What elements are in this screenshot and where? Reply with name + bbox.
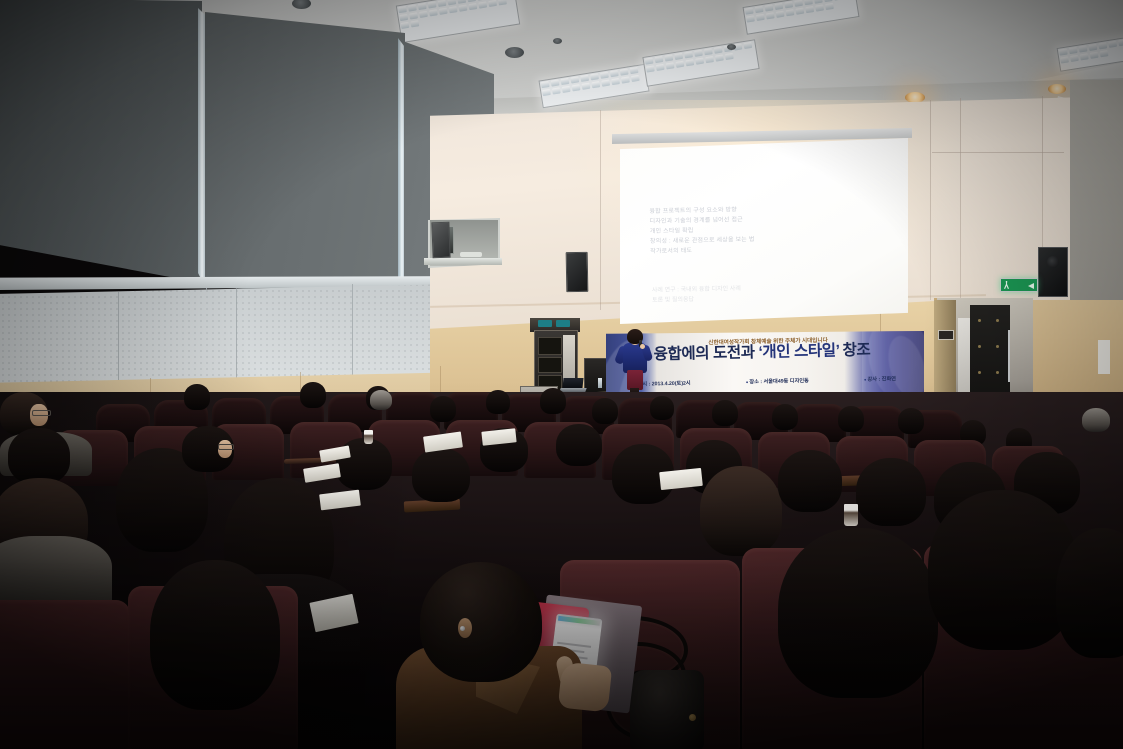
slide-line: 작가로서의 태도 [650,245,850,256]
ceiling-speaker-grille [553,38,562,44]
laptop[interactable] [560,378,586,392]
slide-text-block: 융합 프로젝트의 구성 요소와 방향 디자인과 기술의 경계를 넘어선 접근 개… [649,205,850,275]
attendee-head [420,562,542,682]
audience-head [300,382,326,408]
slide-line: 창의성 : 새로운 관점으로 세상을 보는 법 [650,235,850,246]
audience-head-grey-hair [1082,408,1110,432]
audience-head [184,384,210,410]
audience-head [898,408,924,434]
attendee-hand [558,662,613,713]
running-man-icon [1004,281,1009,289]
presenter-skirt [627,370,643,390]
audience-head [778,450,842,512]
audience-head [556,424,602,466]
loudspeaker-icon [1038,247,1068,297]
presenter-hand [640,344,645,349]
banner-headline-quote: ‘개인 스타일’ [758,342,839,361]
audience-head [412,448,470,502]
audience-head-foreground [778,528,938,698]
audience-head [712,400,738,426]
audience-head [430,396,456,422]
coffee-cup[interactable] [844,504,858,526]
audience-head [838,406,864,432]
audience-head [700,466,782,556]
audience-head [856,458,926,526]
handbag[interactable] [630,670,704,749]
window-blind[interactable] [205,6,405,306]
ceiling-speaker-grille [727,44,736,50]
audience-head-foreground [928,490,1078,650]
audience-head [772,404,798,430]
slide-text-block-secondary: 사례 연구 : 국내외 융합 디자인 사례 토론 및 질의응답 [652,284,832,307]
door-handle[interactable] [1008,330,1010,382]
booth-item [460,252,482,257]
water-bottle [598,378,602,388]
ceiling-downlight-warm [1048,84,1066,94]
wall-seam [960,98,961,298]
wall-seam [930,100,931,300]
panel-seam [352,284,353,380]
ceiling-speaker-grille [505,47,524,58]
window-blind[interactable] [0,0,202,298]
presenter [618,329,652,401]
wall-seam [600,110,601,310]
audience-head [486,390,510,414]
banner-info-place: 장소 : 서울대49동 디자인동 [746,377,809,385]
wall-seam [932,152,1064,153]
wall-switch-plate[interactable] [938,330,954,340]
booth-sill [424,258,502,265]
audience-head [650,396,674,420]
audience-head-foreground [150,560,280,710]
audience-head [592,398,618,424]
banner-headline-part2: 창조 [839,342,871,360]
audience-head [8,428,70,484]
audience-head-grey-hair [370,390,392,410]
audience-head [540,388,566,414]
earring [460,626,465,631]
banner-headline-part1: 융합에의 도전과 [654,344,759,363]
loudspeaker-icon [566,252,589,292]
wall-notice [1098,340,1110,374]
exit-sign [1000,278,1038,292]
foreground-attendee [400,560,700,749]
seat[interactable] [0,600,130,749]
slide-line: 디자인과 기술의 경계를 넘어선 접근 [650,215,850,226]
coffee-cup[interactable] [364,430,373,444]
eyeglasses-icon [218,444,234,450]
slide-line: 토론 및 질의응답 [652,294,832,304]
eyeglasses-icon [32,410,51,416]
lecture-hall-photo: 융합 프로젝트의 구성 요소와 방향 디자인과 기술의 경계를 넘어선 접근 개… [0,0,1123,749]
arrow-right-icon [1028,283,1034,289]
banner-info-speaker: 강사 : 진화연 [864,375,896,383]
panel-seam [236,288,237,388]
loudspeaker-icon [431,222,450,259]
slide-line: 개인 스타일 확립 [650,225,850,236]
